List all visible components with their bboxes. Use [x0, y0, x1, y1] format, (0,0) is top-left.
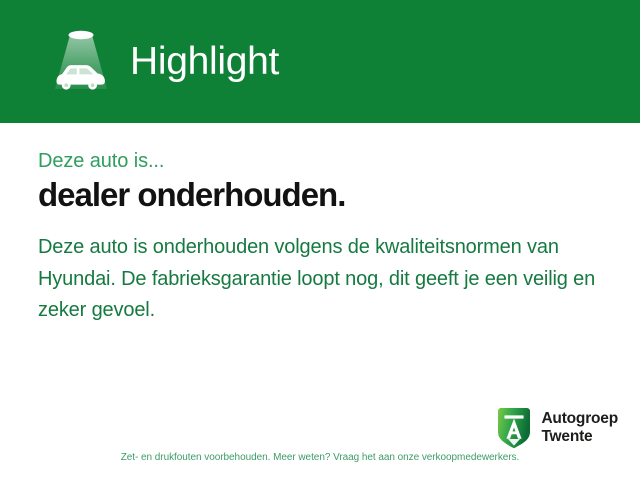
- description-text: Deze auto is onderhouden volgens de kwal…: [38, 232, 626, 327]
- page-title: Highlight: [130, 42, 279, 81]
- highlight-card: Highlight Deze auto is... dealer onderho…: [0, 0, 640, 480]
- content-area: Deze auto is... dealer onderhouden. Deze…: [0, 123, 640, 327]
- brand-logo: Autogroep Twente: [495, 406, 618, 450]
- brand-name: Autogroep Twente: [541, 410, 618, 445]
- header-banner: Highlight: [0, 0, 640, 123]
- headline-text: dealer onderhouden.: [38, 177, 640, 214]
- eyebrow-text: Deze auto is...: [38, 150, 640, 172]
- brand-name-line1: Autogroep: [541, 410, 618, 428]
- autogroep-twente-shield-icon: [495, 406, 533, 450]
- car-spotlight-icon: [46, 26, 116, 98]
- brand-name-line2: Twente: [541, 428, 618, 446]
- disclaimer-text: Zet- en drukfouten voorbehouden. Meer we…: [0, 452, 640, 463]
